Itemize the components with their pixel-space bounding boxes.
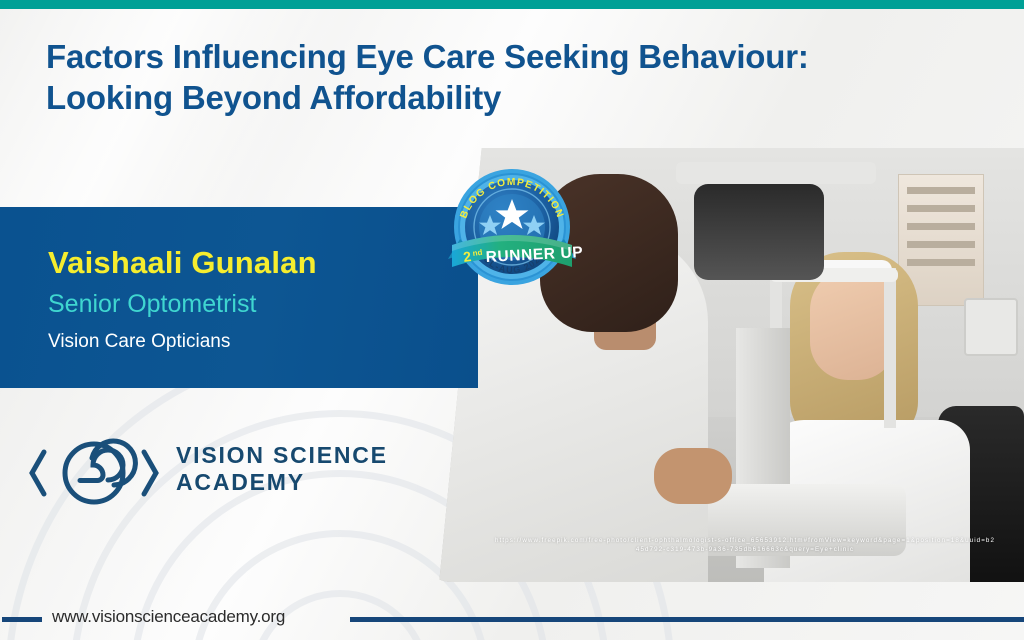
badge-rank-suffix: nd	[472, 248, 483, 258]
photo-attribution: https://www.freepik.com/free-photo/clien…	[495, 536, 995, 554]
footer: www.visionscienceacademy.org	[0, 602, 1024, 636]
footer-rule-right	[350, 617, 1024, 622]
speaker-organisation: Vision Care Opticians	[48, 331, 230, 353]
logo-line-1: VISION SCIENCE	[176, 442, 388, 469]
presentation-slide: Factors Influencing Eye Care Seeking Beh…	[0, 0, 1024, 640]
vision-science-academy-spiral-mark	[24, 436, 174, 510]
page-title: Factors Influencing Eye Care Seeking Beh…	[46, 36, 1006, 118]
footer-rule-left	[2, 617, 42, 622]
logo-line-2: ACADEMY	[176, 469, 388, 496]
title-line-2: Looking Beyond Affordability	[46, 77, 1006, 118]
brand-logo: VISION SCIENCE ACADEMY	[24, 432, 404, 514]
footer-url[interactable]: www.visionscienceacademy.org	[52, 607, 285, 627]
photo-monitor	[964, 298, 1018, 356]
speaker-name: Vaishaali Gunalan	[48, 245, 317, 281]
title-line-1: Factors Influencing Eye Care Seeking Beh…	[46, 38, 809, 75]
logo-wordmark: VISION SCIENCE ACADEMY	[176, 442, 388, 496]
top-accent-bar	[0, 0, 1024, 9]
award-badge: BLOG COMPETITION JUL-AUG 2025 2 nd RUNNE…	[442, 163, 582, 287]
speaker-role: Senior Optometrist	[48, 290, 256, 319]
